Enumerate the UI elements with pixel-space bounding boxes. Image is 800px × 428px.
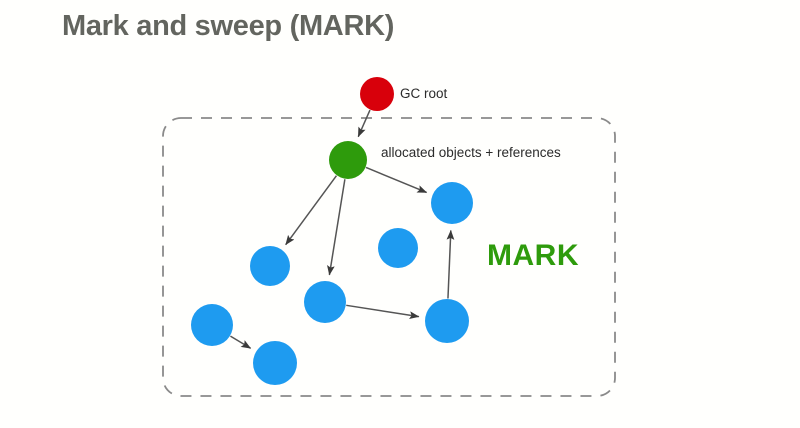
reachable-object-node[interactable]	[329, 141, 367, 179]
object-node[interactable]	[191, 304, 233, 346]
reference-arrow	[230, 336, 250, 348]
mark-phase-label: MARK	[487, 239, 579, 273]
reference-arrow	[286, 176, 337, 245]
reference-arrow	[366, 167, 427, 192]
reference-arrow	[448, 230, 451, 298]
mark-sweep-diagram: GC root allocated objects + references M…	[0, 0, 800, 423]
object-node[interactable]	[431, 182, 473, 224]
gc-root-node[interactable]	[360, 77, 394, 111]
object-node[interactable]	[378, 228, 418, 268]
object-node[interactable]	[425, 299, 469, 343]
reference-arrow	[358, 110, 370, 137]
diagram-canvas	[0, 0, 800, 423]
allocated-objects-label: allocated objects + references	[381, 145, 561, 160]
reference-arrow	[329, 179, 344, 275]
slide: Mark and sweep (MARK) GC root allocated …	[0, 0, 800, 423]
object-node[interactable]	[250, 246, 290, 286]
object-node[interactable]	[304, 281, 346, 323]
nodes-group	[191, 77, 473, 385]
object-node[interactable]	[253, 341, 297, 385]
gc-root-label: GC root	[400, 86, 447, 101]
reference-arrow	[346, 305, 419, 316]
